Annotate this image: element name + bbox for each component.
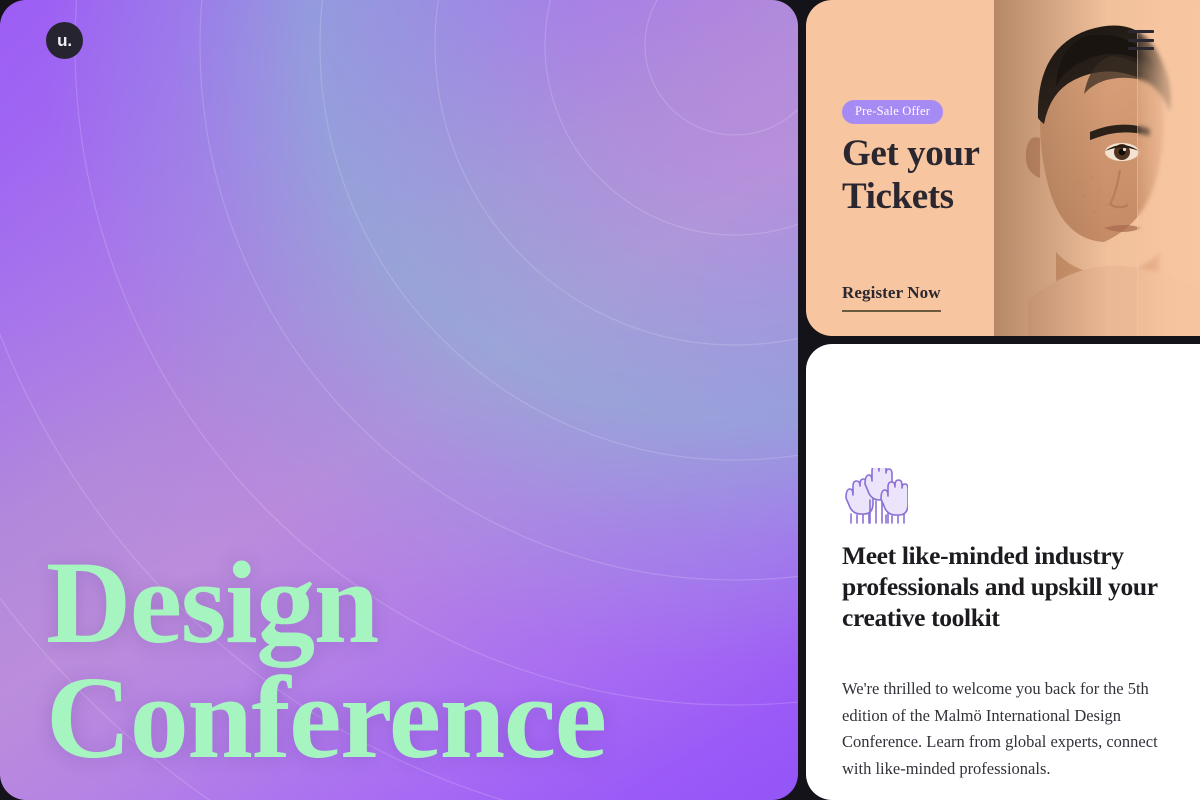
info-card-title: Meet like-minded industry professionals … xyxy=(842,540,1170,633)
page-title: Design Conference xyxy=(46,545,606,776)
right-column: Pre-Sale Offer Get your Tickets Register… xyxy=(806,0,1200,800)
tickets-card: Pre-Sale Offer Get your Tickets Register… xyxy=(806,0,1200,336)
hamburger-line-2 xyxy=(1128,39,1154,42)
tickets-title-line-1: Get your xyxy=(842,132,980,175)
hamburger-menu-icon[interactable] xyxy=(1128,30,1154,50)
hamburger-line-1 xyxy=(1128,30,1154,33)
status-badge: Pre-Sale Offer xyxy=(842,100,943,124)
info-card: Meet like-minded industry professionals … xyxy=(806,344,1200,800)
brand-logo-icon[interactable]: u. xyxy=(46,22,83,59)
hero-panel: u. Design Conference xyxy=(0,0,798,800)
raised-hands-icon xyxy=(842,468,908,524)
tickets-title-line-2: Tickets xyxy=(842,175,980,218)
portrait-fade-strip xyxy=(1138,0,1200,336)
info-card-body: We're thrilled to welcome you back for t… xyxy=(842,676,1172,783)
tickets-title: Get your Tickets xyxy=(842,132,980,219)
hero-title-line-2: Conference xyxy=(46,660,606,776)
page-root: u. Design Conference xyxy=(0,0,1200,800)
register-now-link[interactable]: Register Now xyxy=(842,283,941,312)
hamburger-line-3 xyxy=(1128,47,1154,50)
hero-title-line-1: Design xyxy=(46,545,606,661)
